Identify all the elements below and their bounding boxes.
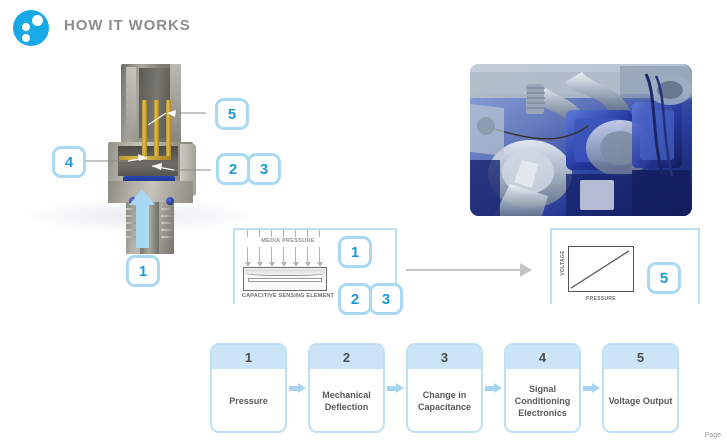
- flow-arrow-3-4: [485, 383, 502, 394]
- flow-step-4[interactable]: 4 Signal Conditioning Electronics: [504, 343, 581, 433]
- arrow-head: [396, 383, 404, 393]
- callout-badge-2-diagram[interactable]: 2: [338, 283, 372, 315]
- sensor-asic-board: [119, 156, 171, 160]
- sensor-thread: [161, 229, 174, 231]
- sensor-thread: [161, 222, 174, 224]
- flow-step-label: Pressure: [212, 369, 285, 433]
- sensor-pin-3: [166, 100, 171, 160]
- callout-badge-1-sensor[interactable]: 1: [126, 255, 160, 287]
- process-transition-arrow: [406, 269, 524, 271]
- sensor-oring-right: [166, 197, 174, 205]
- flow-step-label: Change in Capacitance: [408, 369, 481, 433]
- process-flow-chart: 1 Pressure 2 Mechanical Deflection 3 Cha…: [210, 343, 700, 435]
- callout-badge-3-sensor[interactable]: 3: [247, 153, 281, 185]
- process-transition-arrow-head: [520, 263, 532, 277]
- footer-page-label: Page: [705, 432, 721, 439]
- callout-badge-4-sensor[interactable]: 4: [52, 146, 86, 178]
- callout-badge-1-diagram[interactable]: 1: [338, 236, 372, 268]
- flow-step-number: 4: [506, 345, 579, 369]
- logo-dot-middle: [22, 23, 30, 31]
- sensor-thread: [161, 208, 174, 210]
- page-title: HOW IT WORKS: [64, 17, 191, 34]
- flow-step-label: Mechanical Deflection: [310, 369, 383, 433]
- flow-arrow-1-2: [289, 383, 306, 394]
- engine-application-photo: [470, 64, 692, 216]
- callout-badge-2-sensor[interactable]: 2: [216, 153, 250, 185]
- callout-badge-3-diagram[interactable]: 3: [369, 283, 403, 315]
- pressure-inlet-arrow: [136, 200, 149, 248]
- flow-step-3[interactable]: 3 Change in Capacitance: [406, 343, 483, 433]
- flow-step-label: Voltage Output: [604, 369, 677, 433]
- sensor-connector-edge: [170, 64, 181, 144]
- sensor-connector-highlight: [126, 67, 136, 139]
- page-header: HOW IT WORKS: [0, 0, 727, 52]
- sensor-thread: [161, 215, 174, 217]
- flow-step-number: 1: [212, 345, 285, 369]
- flow-step-number: 2: [310, 345, 383, 369]
- arrow-head: [298, 383, 306, 393]
- arrow-head: [494, 383, 502, 393]
- logo-dot-top: [32, 15, 43, 26]
- flow-arrow-4-5: [583, 383, 600, 394]
- flow-arrow-2-3: [387, 383, 404, 394]
- flow-step-number: 5: [604, 345, 677, 369]
- flow-step-number: 3: [408, 345, 481, 369]
- logo-dot-bottom: [22, 34, 30, 42]
- sensor-thread: [161, 236, 174, 238]
- sensor-pin-1: [142, 100, 147, 160]
- callout-badge-5-sensor[interactable]: 5: [215, 98, 249, 130]
- sensor-pin-2: [154, 100, 159, 160]
- engine-photo-art: [470, 64, 692, 216]
- flow-step-1[interactable]: 1 Pressure: [210, 343, 287, 433]
- flow-step-5[interactable]: 5 Voltage Output: [602, 343, 679, 433]
- callout-badge-5-graph[interactable]: 5: [647, 262, 681, 294]
- flow-step-2[interactable]: 2 Mechanical Deflection: [308, 343, 385, 433]
- company-logo-icon: [13, 10, 49, 46]
- flow-step-label: Signal Conditioning Electronics: [506, 369, 579, 433]
- arrow-head: [592, 383, 600, 393]
